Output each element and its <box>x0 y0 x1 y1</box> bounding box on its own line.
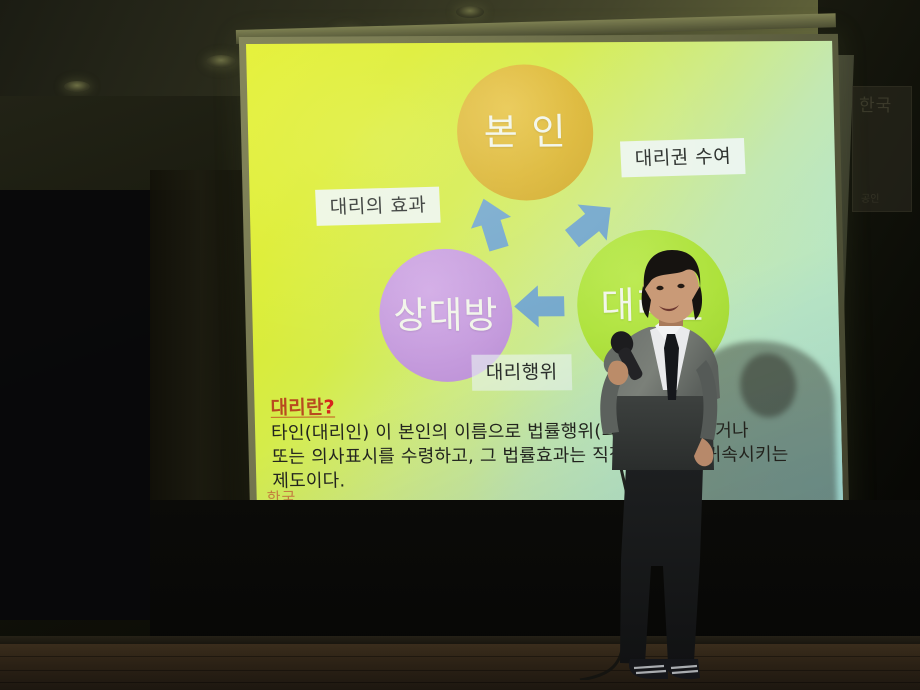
speaker-hand-right <box>608 361 629 385</box>
speaker-eye-right <box>677 284 684 288</box>
speaker-eye-left <box>656 286 663 290</box>
speaker-shoes <box>629 659 700 679</box>
speaker-person <box>0 0 920 690</box>
speaker-legs <box>620 466 703 664</box>
photo-scene: 한국 공인 본 인 상대방 대리인 <box>0 0 920 690</box>
